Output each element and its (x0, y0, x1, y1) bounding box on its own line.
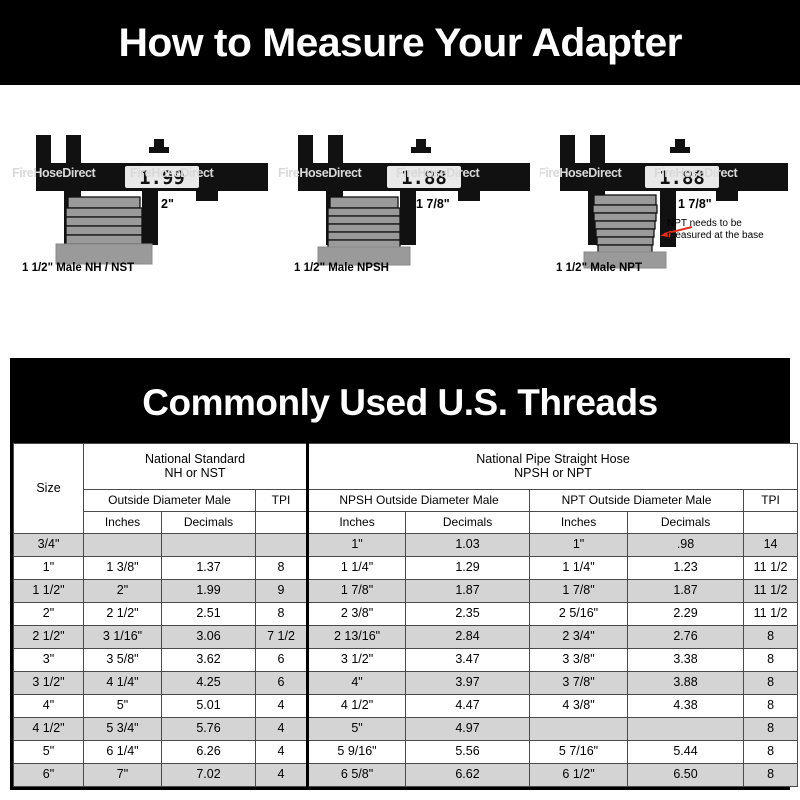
cell-npt-inches: 2 3/4" (530, 626, 628, 649)
col-header-npsh-inches: Inches (308, 512, 406, 534)
table-row: 2"2 1/2"2.5182 3/8"2.352 5/16"2.2911 1/2 (14, 603, 798, 626)
cell-npsh-inches: 3 1/2" (308, 649, 406, 672)
cell-npsh-decimals: 2.84 (406, 626, 530, 649)
caption-npsh: 1 1/2" Male NPSH (294, 262, 389, 274)
ns-line1: National Standard (84, 453, 306, 466)
cell-nh-decimals: 2.51 (162, 603, 256, 626)
cell-np-tpi: 8 (744, 695, 798, 718)
npt-note-line2: measured at the base (667, 230, 764, 242)
cell-npsh-decimals: 1.29 (406, 557, 530, 580)
cell-npsh-decimals: 1.87 (406, 580, 530, 603)
cell-np-tpi: 8 (744, 649, 798, 672)
table-row: 3 1/2"4 1/4"4.2564"3.973 7/8"3.888 (14, 672, 798, 695)
caption-npt: 1 1/2" Male NPT (556, 262, 642, 274)
cell-npt-decimals: .98 (628, 534, 744, 557)
page-title-banner: How to Measure Your Adapter (0, 0, 800, 85)
cell-nh-decimals: 1.37 (162, 557, 256, 580)
col-header-npsh-decimals: Decimals (406, 512, 530, 534)
cell-npt-inches: 1 1/4" (530, 557, 628, 580)
table-row: 3"3 5/8"3.6263 1/2"3.473 3/8"3.388 (14, 649, 798, 672)
table-row: 2 1/2"3 1/16"3.067 1/22 13/16"2.842 3/4"… (14, 626, 798, 649)
table-row: 4"5"5.0144 1/2"4.474 3/8"4.388 (14, 695, 798, 718)
cell-npt-inches (530, 718, 628, 741)
col-header-npt-decimals: Decimals (628, 512, 744, 534)
table-row: 1 1/2"2"1.9991 7/8"1.871 7/8"1.8711 1/2 (14, 580, 798, 603)
cell-nh-inches: 3 5/8" (84, 649, 162, 672)
col-header-np-tpi: TPI (744, 490, 798, 512)
threads-table: Size National Standard NH or NST Nationa… (13, 443, 798, 787)
cell-np-tpi: 11 1/2 (744, 603, 798, 626)
cell-npt-decimals: 4.38 (628, 695, 744, 718)
cell-npt-inches: 1" (530, 534, 628, 557)
threads-table-body: 3/4"1"1.031".98141"1 3/8"1.3781 1/4"1.29… (14, 534, 798, 787)
col-group-national-pipe-straight-hose: National Pipe Straight Hose NPSH or NPT (308, 444, 798, 490)
cell-np-tpi: 8 (744, 764, 798, 787)
col-header-nh-tpi: TPI (256, 490, 308, 512)
cell-size: 3/4" (14, 534, 84, 557)
col-group-national-standard: National Standard NH or NST (84, 444, 308, 490)
cell-npt-decimals: 2.76 (628, 626, 744, 649)
dimension-label-nh-nst: 2" (161, 197, 174, 211)
poster-root: How to Measure Your Adapter FireHoseDire… (0, 0, 800, 800)
table-row: 3/4"1"1.031".9814 (14, 534, 798, 557)
cell-npt-inches: 4 3/8" (530, 695, 628, 718)
table-row: 5"6 1/4"6.2645 9/16"5.565 7/16"5.448 (14, 741, 798, 764)
caliper-illustration-npt: 1.88 (540, 115, 800, 275)
cell-size: 5" (14, 741, 84, 764)
cell-np-tpi: 8 (744, 672, 798, 695)
cell-npsh-inches: 6 5/8" (308, 764, 406, 787)
cell-npt-decimals: 2.29 (628, 603, 744, 626)
cell-size: 4" (14, 695, 84, 718)
table-header-row-sub: Outside Diameter Male TPI NPSH Outside D… (14, 490, 798, 512)
cell-nh-tpi: 6 (256, 649, 308, 672)
col-header-nh-decimals: Decimals (162, 512, 256, 534)
cell-np-tpi: 8 (744, 741, 798, 764)
caliper-readout-npt: 1.88 (659, 167, 705, 189)
cell-npsh-inches: 1" (308, 534, 406, 557)
col-header-npt-inches: Inches (530, 512, 628, 534)
cell-np-tpi: 14 (744, 534, 798, 557)
cell-nh-tpi: 7 1/2 (256, 626, 308, 649)
cell-npsh-decimals: 4.97 (406, 718, 530, 741)
cell-npt-inches: 1 7/8" (530, 580, 628, 603)
table-title-banner: Commonly Used U.S. Threads (13, 361, 787, 443)
cell-nh-decimals: 7.02 (162, 764, 256, 787)
threads-table-section: Commonly Used U.S. Threads Size National… (10, 358, 790, 790)
dimension-label-npsh: 1 7/8" (416, 197, 450, 211)
table-header-row-units: Inches Decimals Inches Decimals Inches D… (14, 512, 798, 534)
cell-nh-decimals (162, 534, 256, 557)
cell-npt-decimals: 1.87 (628, 580, 744, 603)
col-header-nh-inches: Inches (84, 512, 162, 534)
cell-nh-inches: 6 1/4" (84, 741, 162, 764)
cell-np-tpi: 8 (744, 626, 798, 649)
cell-nh-inches: 5 3/4" (84, 718, 162, 741)
col-header-npsh-outside-diameter-male: NPSH Outside Diameter Male (308, 490, 530, 512)
cell-nh-inches: 1 3/8" (84, 557, 162, 580)
caliper-diagrams: FireHoseDirect 1.99 (0, 85, 800, 355)
diagram-nh-nst: 1.99 FireHoseDirect FireHoseDirect 2" 1 … (6, 85, 276, 355)
cell-nh-decimals: 3.06 (162, 626, 256, 649)
cell-npsh-decimals: 3.47 (406, 649, 530, 672)
caliper-readout-nh-nst: 1.99 (139, 167, 185, 189)
cell-npsh-decimals: 5.56 (406, 741, 530, 764)
cell-nh-inches (84, 534, 162, 557)
cell-npsh-decimals: 4.47 (406, 695, 530, 718)
caption-nh-nst: 1 1/2" Male NH / NST (22, 262, 134, 274)
table-row: 6"7"7.0246 5/8"6.626 1/2"6.508 (14, 764, 798, 787)
cell-nh-decimals: 6.26 (162, 741, 256, 764)
cell-nh-decimals: 5.76 (162, 718, 256, 741)
cell-nh-tpi: 4 (256, 741, 308, 764)
cell-npsh-inches: 5 9/16" (308, 741, 406, 764)
cell-np-tpi: 11 1/2 (744, 580, 798, 603)
cell-npsh-decimals: 1.03 (406, 534, 530, 557)
cell-npsh-inches: 2 3/8" (308, 603, 406, 626)
cell-npsh-decimals: 6.62 (406, 764, 530, 787)
cell-nh-tpi (256, 534, 308, 557)
diagram-npsh: 1.88 FireHoseDirect FireHoseDirect 1 7/8… (278, 85, 548, 355)
cell-nh-decimals: 1.99 (162, 580, 256, 603)
caliper-illustration-npsh: 1.88 (278, 115, 548, 275)
npt-base-note: NPT needs to be measured at the base (667, 218, 764, 242)
cell-size: 1 1/2" (14, 580, 84, 603)
cell-npt-inches: 5 7/16" (530, 741, 628, 764)
caliper-illustration-nh-nst: 1.99 (6, 115, 276, 275)
ns-line2: NH or NST (84, 467, 306, 480)
col-header-npt-outside-diameter-male: NPT Outside Diameter Male (530, 490, 744, 512)
caliper-readout-npsh: 1.88 (401, 167, 447, 189)
cell-nh-inches: 2 1/2" (84, 603, 162, 626)
col-header-nh-tpi-blank (256, 512, 308, 534)
cell-npt-decimals: 5.44 (628, 741, 744, 764)
nps-line2: NPSH or NPT (309, 467, 797, 480)
col-header-nh-outside-diameter-male: Outside Diameter Male (84, 490, 256, 512)
page-title: How to Measure Your Adapter (118, 23, 682, 63)
cell-npt-decimals (628, 718, 744, 741)
cell-npsh-inches: 1 1/4" (308, 557, 406, 580)
cell-np-tpi: 11 1/2 (744, 557, 798, 580)
cell-npsh-inches: 2 13/16" (308, 626, 406, 649)
cell-npsh-inches: 1 7/8" (308, 580, 406, 603)
table-row: 4 1/2"5 3/4"5.7645"4.978 (14, 718, 798, 741)
cell-nh-inches: 4 1/4" (84, 672, 162, 695)
cell-npsh-decimals: 2.35 (406, 603, 530, 626)
cell-nh-inches: 2" (84, 580, 162, 603)
cell-np-tpi: 8 (744, 718, 798, 741)
cell-nh-inches: 7" (84, 764, 162, 787)
nps-line1: National Pipe Straight Hose (309, 453, 797, 466)
cell-npt-decimals: 3.88 (628, 672, 744, 695)
cell-nh-inches: 5" (84, 695, 162, 718)
cell-size: 6" (14, 764, 84, 787)
cell-nh-decimals: 3.62 (162, 649, 256, 672)
cell-nh-tpi: 4 (256, 695, 308, 718)
diagram-npt: 1.88 FireHoseDire (540, 85, 800, 355)
col-header-size: Size (14, 444, 84, 534)
dimension-label-npt: 1 7/8" (678, 197, 712, 211)
table-title: Commonly Used U.S. Threads (142, 384, 657, 421)
table-row: 1"1 3/8"1.3781 1/4"1.291 1/4"1.2311 1/2 (14, 557, 798, 580)
cell-size: 2" (14, 603, 84, 626)
cell-size: 1" (14, 557, 84, 580)
cell-nh-tpi: 9 (256, 580, 308, 603)
cell-nh-decimals: 4.25 (162, 672, 256, 695)
cell-nh-tpi: 4 (256, 718, 308, 741)
cell-npsh-inches: 4 1/2" (308, 695, 406, 718)
cell-npt-inches: 3 3/8" (530, 649, 628, 672)
cell-npsh-inches: 5" (308, 718, 406, 741)
cell-nh-tpi: 4 (256, 764, 308, 787)
cell-npsh-inches: 4" (308, 672, 406, 695)
cell-size: 2 1/2" (14, 626, 84, 649)
cell-size: 3" (14, 649, 84, 672)
cell-npt-inches: 3 7/8" (530, 672, 628, 695)
cell-nh-tpi: 8 (256, 557, 308, 580)
table-header-row-group: Size National Standard NH or NST Nationa… (14, 444, 798, 490)
npt-note-line1: NPT needs to be (667, 218, 764, 230)
cell-npt-inches: 6 1/2" (530, 764, 628, 787)
cell-size: 3 1/2" (14, 672, 84, 695)
col-header-np-tpi-blank (744, 512, 798, 534)
cell-nh-decimals: 5.01 (162, 695, 256, 718)
cell-nh-inches: 3 1/16" (84, 626, 162, 649)
cell-nh-tpi: 6 (256, 672, 308, 695)
cell-npt-decimals: 3.38 (628, 649, 744, 672)
cell-size: 4 1/2" (14, 718, 84, 741)
cell-npt-decimals: 6.50 (628, 764, 744, 787)
cell-npt-decimals: 1.23 (628, 557, 744, 580)
cell-nh-tpi: 8 (256, 603, 308, 626)
cell-npt-inches: 2 5/16" (530, 603, 628, 626)
cell-npsh-decimals: 3.97 (406, 672, 530, 695)
